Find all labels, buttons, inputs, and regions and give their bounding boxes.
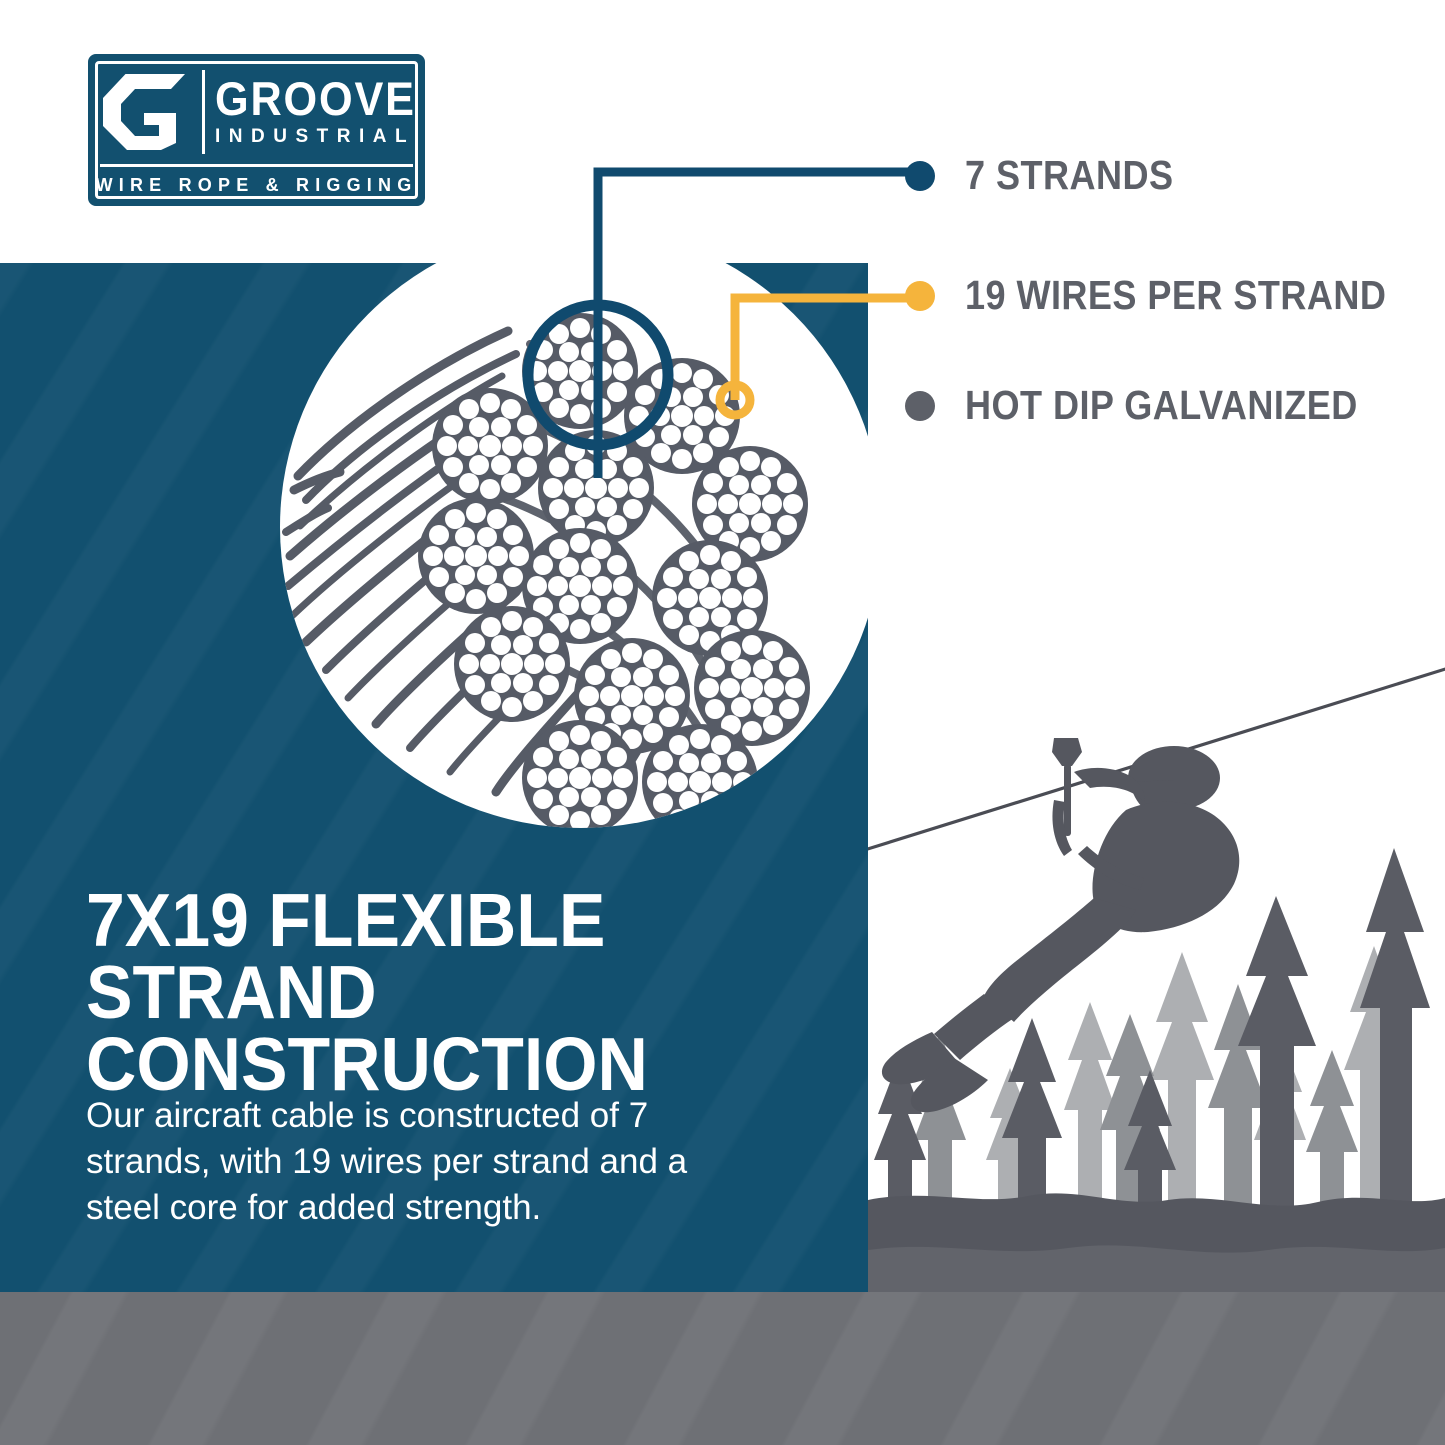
logo-wordmark: GROOVE INDUSTRIAL (215, 76, 433, 148)
logo-tagline: WIRE ROPE & RIGGING (96, 175, 418, 196)
wire-rope-cross-section-illustration (280, 226, 882, 828)
callout-dot-icon (905, 391, 935, 421)
callout-dot-icon (905, 281, 935, 311)
zipline-photo (868, 640, 1445, 1292)
callout-label: HOT DIP GALVANIZED (965, 382, 1358, 429)
callout-strands[interactable]: 7 STRANDS (905, 152, 1202, 199)
headline-line-2: STRAND CONSTRUCTION (86, 956, 793, 1100)
callout-dot-icon (905, 161, 935, 191)
callout-label: 19 WIRES PER STRAND (965, 272, 1386, 319)
logo-top-row: GROOVE INDUSTRIAL (98, 64, 415, 160)
footer-bar (0, 1292, 1445, 1445)
logo-divider (202, 70, 205, 154)
logo-tagline-row: WIRE ROPE & RIGGING (100, 168, 413, 202)
g-hexagon-logo-icon (98, 68, 200, 156)
brand-logo[interactable]: GROOVE INDUSTRIAL WIRE ROPE & RIGGING (88, 54, 425, 206)
logo-subname: INDUSTRIAL (215, 126, 433, 148)
callout-label: 7 STRANDS (965, 152, 1173, 199)
logo-name: GROOVE (215, 76, 416, 121)
logo-rule (100, 164, 413, 167)
footer-wave-texture (0, 1292, 1445, 1445)
headline-line-1: 7X19 FLEXIBLE (86, 884, 793, 956)
callout-wires-per-strand[interactable]: 19 WIRES PER STRAND (905, 272, 1444, 319)
infographic-canvas: GROOVE INDUSTRIAL WIRE ROPE & RIGGING (0, 0, 1445, 1445)
body-description: Our aircraft cable is constructed of 7 s… (86, 1093, 736, 1232)
callout-galvanized[interactable]: HOT DIP GALVANIZED (905, 382, 1411, 429)
page-title: 7X19 FLEXIBLE STRAND CONSTRUCTION (86, 884, 793, 1100)
